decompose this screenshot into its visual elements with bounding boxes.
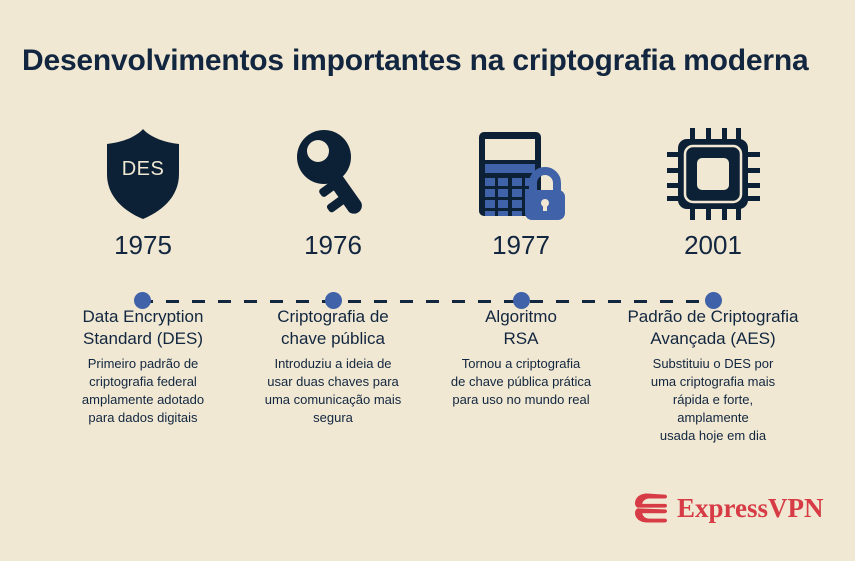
icon-slot [602,118,824,230]
timeline-year: 2001 [602,230,824,266]
heading-line: Avançada (AES) [602,328,824,350]
body-line: Tornou a criptografia [432,355,610,373]
heading-line: Data Encryption [48,306,238,328]
microchip-icon [665,126,761,222]
body-line: de chave pública prática [432,373,610,391]
body-line: Primeiro padrão de [48,355,238,373]
body-line: usada hoje em dia [602,427,824,445]
timeline-columns: DES 1975 Data Encryption Standard (DES) … [0,118,855,478]
icon-slot: DES [48,118,238,230]
body-line: uma criptografia mais [602,373,824,391]
heading-line: Padrão de Criptografia [602,306,824,328]
icon-slot [238,118,428,230]
timeline-item-aes: 2001 Padrão de Criptografia Avançada (AE… [602,118,824,445]
timeline-dot [134,292,151,309]
key-icon [293,126,373,222]
shield-des-icon: DES [104,128,182,220]
timeline-body: Primeiro padrão de criptografia federal … [48,355,238,427]
heading-line: Algoritmo [432,306,610,328]
heading-line: chave pública [238,328,428,350]
timeline-dot [325,292,342,309]
timeline-body: Tornou a criptografia de chave pública p… [432,355,610,409]
calculator-lock-icon [473,126,569,222]
timeline-heading: Algoritmo RSA [432,306,610,350]
body-line: para uso no mundo real [432,391,610,409]
timeline-year: 1976 [238,230,428,266]
body-line: Substituiu o DES por [602,355,824,373]
expressvpn-mark-icon [634,492,668,524]
timeline-item-rsa: 1977 Algoritmo RSA Tornou a criptografia… [432,118,610,409]
body-line: para dados digitais [48,409,238,427]
body-line: segura [238,409,428,427]
timeline-body: Introduziu a ideia de usar duas chaves p… [238,355,428,427]
body-line: usar duas chaves para [238,373,428,391]
page-title: Desenvolvimentos importantes na criptogr… [22,44,808,78]
body-line: amplamente [602,409,824,427]
timeline-dot [705,292,722,309]
timeline-item-public-key: 1976 Criptografia de chave pública Intro… [238,118,428,427]
shield-label: DES [104,158,182,181]
timeline-body: Substituiu o DES por uma criptografia ma… [602,355,824,445]
body-line: rápida e forte, [602,391,824,409]
timeline-year: 1975 [48,230,238,266]
timeline-heading: Data Encryption Standard (DES) [48,306,238,350]
heading-line: Criptografia de [238,306,428,328]
body-line: amplamente adotado [48,391,238,409]
timeline-year: 1977 [432,230,610,266]
heading-line: Standard (DES) [48,328,238,350]
expressvpn-wordmark: ExpressVPN [677,493,824,524]
timeline-heading: Padrão de Criptografia Avançada (AES) [602,306,824,350]
infographic-canvas: Desenvolvimentos importantes na criptogr… [0,0,855,561]
timeline-dot [513,292,530,309]
timeline-item-des: DES 1975 Data Encryption Standard (DES) … [48,118,238,427]
timeline-dashed-line [140,300,715,303]
timeline-heading: Criptografia de chave pública [238,306,428,350]
heading-line: RSA [432,328,610,350]
body-line: Introduziu a ideia de [238,355,428,373]
expressvpn-logo: ExpressVPN [634,492,824,524]
body-line: criptografia federal [48,373,238,391]
body-line: uma comunicação mais [238,391,428,409]
icon-slot [432,118,610,230]
